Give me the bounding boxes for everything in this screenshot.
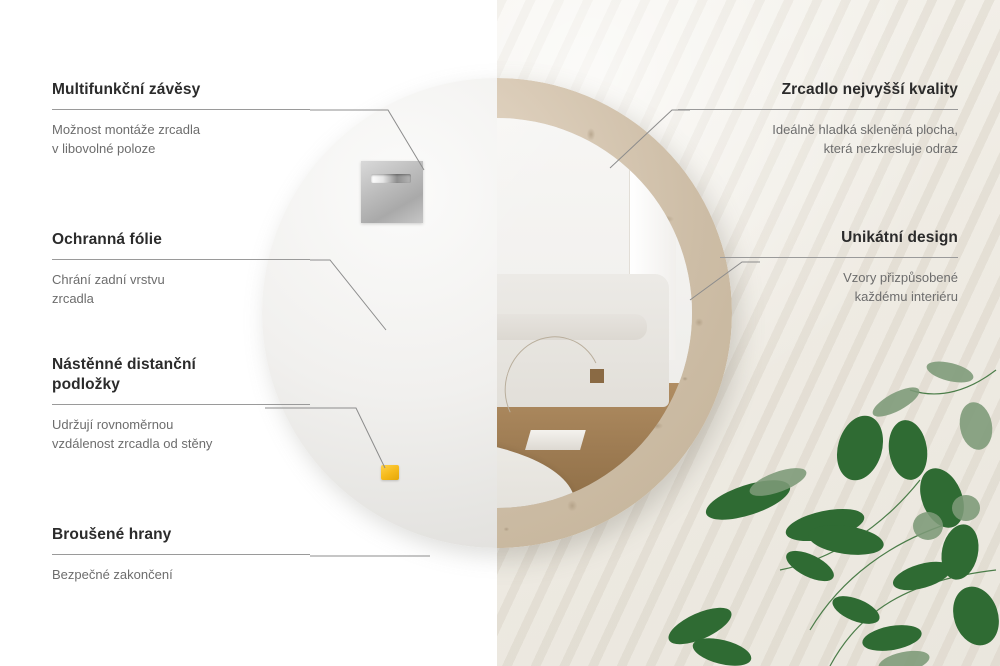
callout-desc-line2: která nezkresluje odraz <box>824 141 958 156</box>
callout-description: Udržují rovnoměrnou vzdálenost zrcadla o… <box>52 415 310 454</box>
callout-desc-line2: zrcadla <box>52 291 94 306</box>
callout-title: Ochranná fólie <box>52 230 310 250</box>
callout-nastenne-distancni-podlozky: Nástěnné distanční podložky Udržují rovn… <box>52 355 310 454</box>
callout-desc-line1: Bezpečné zakončení <box>52 567 173 582</box>
reflected-lamp-base <box>525 430 585 450</box>
callout-title: Broušené hrany <box>52 525 310 545</box>
callout-description: Vzory přizpůsobené každému interiéru <box>720 268 958 307</box>
callout-unikatni-design: Unikátní design Vzory přizpůsobené každé… <box>720 228 958 307</box>
callout-desc-line1: Vzory přizpůsobené <box>843 270 958 285</box>
callout-desc-line2: v libovolné poloze <box>52 141 155 156</box>
callout-description: Chrání zadní vrstvu zrcadla <box>52 270 310 309</box>
callout-title-line1: Nástěnné distanční <box>52 356 196 373</box>
callout-description: Bezpečné zakončení <box>52 565 310 585</box>
callout-ochranna-folie: Ochranná fólie Chrání zadní vrstvu zrcad… <box>52 230 310 309</box>
callout-title: Unikátní design <box>720 228 958 248</box>
callout-divider <box>720 257 958 258</box>
callout-desc-line1: Možnost montáže zrcadla <box>52 122 200 137</box>
bracket-keyhole-slot <box>371 174 411 183</box>
callout-desc-line2: vzdálenost zrcadla od stěny <box>52 436 212 451</box>
callout-title: Nástěnné distanční podložky <box>52 355 310 395</box>
hanging-bracket-icon <box>361 161 423 223</box>
callout-divider <box>52 404 310 405</box>
wall-spacer-pad-icon <box>381 465 399 480</box>
callout-brousene-hrany: Broušené hrany Bezpečné zakončení <box>52 525 310 584</box>
callout-divider <box>52 554 310 555</box>
callout-title-line2: podložky <box>52 376 120 393</box>
callout-description: Ideálně hladká skleněná plocha, která ne… <box>678 120 958 159</box>
callout-desc-line1: Chrání zadní vrstvu <box>52 272 165 287</box>
callout-divider <box>52 109 310 110</box>
infographic-canvas: Multifunkční závěsy Možnost montáže zrca… <box>0 0 1000 666</box>
callout-zrcadlo-nejvyssi-kvality: Zrcadlo nejvyšší kvality Ideálně hladká … <box>678 80 958 159</box>
callout-multifunkcni-zavesy: Multifunkční závěsy Možnost montáže zrca… <box>52 80 310 159</box>
callout-title: Multifunkční závěsy <box>52 80 310 100</box>
callout-title: Zrcadlo nejvyšší kvality <box>678 80 958 100</box>
callout-desc-line1: Udržují rovnoměrnou <box>52 417 173 432</box>
callout-divider <box>678 109 958 110</box>
callout-description: Možnost montáže zrcadla v libovolné polo… <box>52 120 310 159</box>
callout-desc-line2: každému interiéru <box>855 289 958 304</box>
callout-desc-line1: Ideálně hladká skleněná plocha, <box>772 122 958 137</box>
callout-divider <box>52 259 310 260</box>
